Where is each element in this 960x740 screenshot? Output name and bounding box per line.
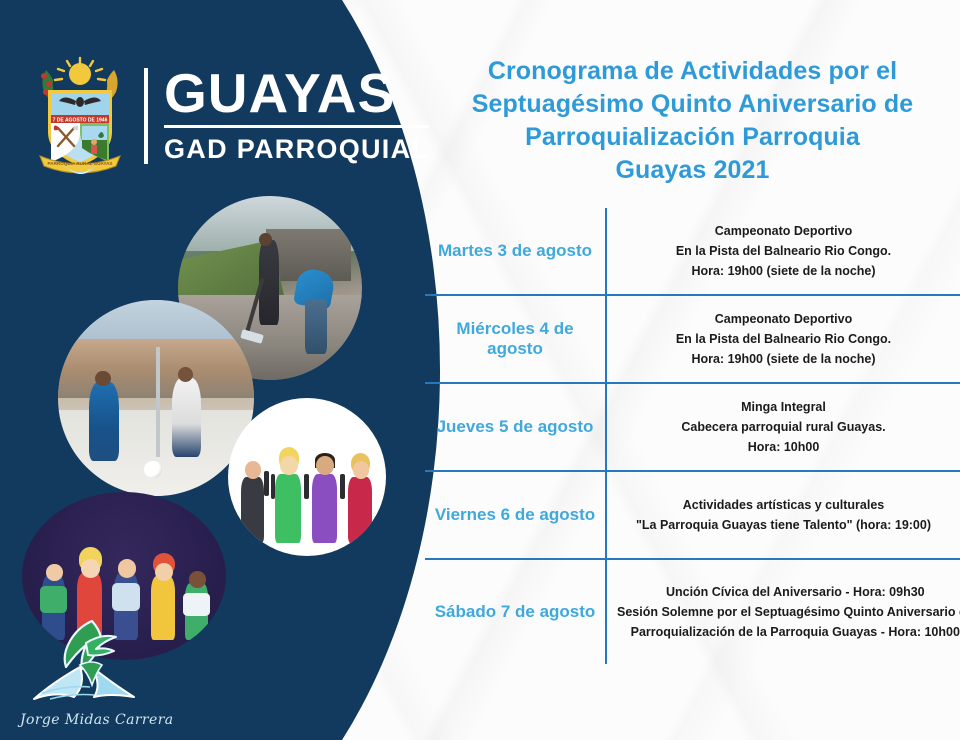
brand-rule — [164, 125, 429, 128]
schedule-day-label: Martes 3 de agosto — [425, 241, 605, 261]
brand-title: GUAYAS — [164, 67, 429, 121]
poster-title: Cronograma de Actividades por el Septuag… — [425, 0, 960, 187]
detail-line: Campeonato Deportivo — [617, 221, 950, 241]
brand-header: 7 DE AGOSTO DE 1946 PARROQUI — [24, 52, 429, 180]
soccer-player-blue — [89, 382, 118, 460]
signature-logo: Jorge Midas Carrera — [20, 613, 170, 728]
schedule-day-label: Sábado 7 de agosto — [425, 602, 605, 622]
minga-worker-legs — [305, 299, 327, 354]
table-row: Miércoles 4 de agosto Campeonato Deporti… — [425, 296, 960, 384]
kid-3-head — [118, 559, 136, 577]
singer-3 — [312, 474, 337, 544]
soccer-player-white — [172, 378, 201, 456]
kid-1-head — [46, 564, 62, 581]
detail-line: Hora: 10h00 — [617, 437, 950, 457]
poster-title-line-1: Cronograma de Actividades por el — [441, 55, 944, 88]
kid-5-head — [189, 571, 205, 588]
detail-line: Hora: 19h00 (siete de la noche) — [617, 261, 950, 281]
singer-mic-1 — [264, 471, 269, 496]
schedule-detail: Unción Cívica del Aniversario - Hora: 09… — [607, 566, 960, 659]
schedule-detail: Actividades artísticas y culturales "La … — [607, 479, 960, 552]
detail-line: En la Pista del Balneario Rio Congo. — [617, 329, 950, 349]
brand-divider — [144, 68, 148, 164]
brand-wordmark: GUAYAS GAD PARROQUIAL — [164, 67, 429, 166]
table-row: Martes 3 de agosto Campeonato Deportivo … — [425, 208, 960, 296]
schedule-day-label: Miércoles 4 de agosto — [425, 319, 605, 359]
schedule-day-label: Viernes 6 de agosto — [425, 505, 605, 525]
detail-line: Actividades artísticas y culturales — [617, 495, 950, 515]
kid-4-head — [155, 563, 173, 581]
content-area: Cronograma de Actividades por el Septuag… — [425, 0, 960, 740]
singer-mic-3 — [304, 474, 309, 499]
singer-mic-4 — [340, 474, 345, 499]
table-row: Jueves 5 de agosto Minga Integral Cabece… — [425, 384, 960, 472]
soccer-light-post — [156, 347, 160, 457]
table-row: Viernes 6 de agosto Actividades artístic… — [425, 472, 960, 560]
kid-3-shirt — [112, 583, 141, 612]
green-bird-book-logo-icon — [20, 613, 170, 709]
schedule-table: Martes 3 de agosto Campeonato Deportivo … — [425, 208, 960, 664]
detail-line: Hora: 19h00 (siete de la noche) — [617, 349, 950, 369]
poster-title-line-2: Septuagésimo Quinto Aniversario de — [441, 88, 944, 121]
schedule-detail: Campeonato Deportivo En la Pista del Bal… — [607, 205, 960, 298]
kid-1-book-icon — [40, 586, 67, 613]
minga-worker-head — [259, 233, 272, 246]
signature-name: Jorge Midas Carrera — [20, 712, 170, 728]
crest-motto-text: 7 DE AGOSTO DE 1946 — [53, 117, 108, 123]
schedule-detail: Campeonato Deportivo En la Pista del Bal… — [607, 293, 960, 386]
poster-title-line-3: Parroquialización Parroquia — [441, 121, 944, 154]
detail-line: Campeonato Deportivo — [617, 309, 950, 329]
soccer-ball-icon — [144, 461, 162, 479]
poster-title-line-4: Guayas 2021 — [441, 154, 944, 187]
schedule-detail: Minga Integral Cabecera parroquial rural… — [607, 381, 960, 474]
crest-ribbon-text: PARROQUIA RURAL GUAYAS — [48, 161, 113, 166]
singer-1-head — [245, 461, 261, 478]
singer-4 — [348, 477, 372, 543]
singer-2-head — [280, 456, 297, 475]
detail-line: En la Pista del Balneario Rio Congo. — [617, 241, 950, 261]
singer-2 — [275, 474, 300, 544]
detail-line: Sesión Solemne por el Septuagésimo Quint… — [617, 602, 960, 622]
kid-2-head — [81, 559, 99, 577]
detail-line: "La Parroquia Guayas tiene Talento" (hor… — [617, 515, 950, 535]
singer-1 — [241, 477, 265, 543]
detail-line: Cabecera parroquial rural Guayas. — [617, 417, 950, 437]
schedule-day-label: Jueves 5 de agosto — [425, 417, 605, 437]
table-row: Sábado 7 de agosto Unción Cívica del Ani… — [425, 560, 960, 664]
kid-5-shirt — [183, 593, 210, 617]
cartoon-singers-illustration — [228, 398, 386, 556]
detail-line: Minga Integral — [617, 397, 950, 417]
soccer-player-blue-head — [95, 371, 111, 387]
brand-subtitle: GAD PARROQUIAL — [164, 134, 429, 165]
singer-3-head — [316, 456, 333, 475]
guayas-coat-of-arms-icon: 7 DE AGOSTO DE 1946 PARROQUI — [24, 52, 136, 180]
singer-4-head — [353, 461, 369, 478]
soccer-match-photo — [58, 300, 254, 496]
detail-line: Parroquialización de la Parroquia Guayas… — [617, 622, 960, 642]
detail-line: Unción Cívica del Aniversario - Hora: 09… — [617, 582, 960, 602]
poster-canvas: 7 DE AGOSTO DE 1946 PARROQUI — [0, 0, 960, 740]
